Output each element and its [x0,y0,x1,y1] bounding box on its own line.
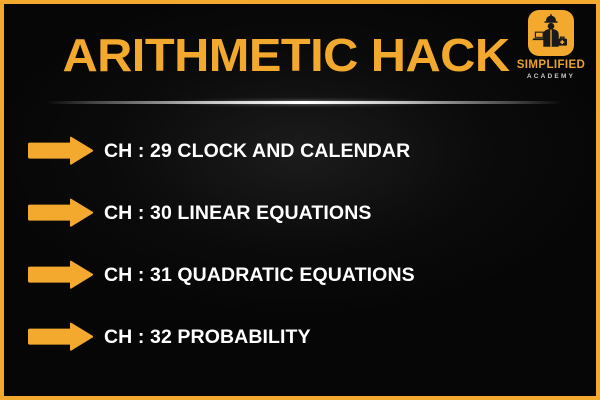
list-item[interactable]: CH : 32 PROBABILITY [4,306,596,368]
logo-brand-name: SIMPLIFIED [514,59,588,72]
list-item[interactable]: CH : 30 LINEAR EQUATIONS [4,182,596,244]
chapter-list: CH : 29 CLOCK AND CALENDAR CH : 30 LINEA… [4,120,596,368]
list-item[interactable]: CH : 31 QUADRATIC EQUATIONS [4,244,596,306]
poster-header: ARITHMETIC HACK [4,4,596,108]
page-title: ARITHMETIC HACK [42,28,530,82]
worker-with-laptop-icon [528,10,574,56]
list-item-label: CH : 29 CLOCK AND CALENDAR [104,140,410,163]
right-arrow-icon [26,260,94,290]
list-item[interactable]: CH : 29 CLOCK AND CALENDAR [4,120,596,182]
list-item-label: CH : 32 PROBABILITY [104,326,311,349]
right-arrow-icon [26,322,94,352]
right-arrow-icon [26,136,94,166]
glow-line-divider [46,96,562,110]
divider-core [46,101,562,104]
list-item-label: CH : 30 LINEAR EQUATIONS [104,202,371,225]
poster-canvas: ARITHMETIC HACK [0,0,600,400]
list-item-label: CH : 31 QUADRATIC EQUATIONS [104,264,415,287]
logo-brand-subtitle: ACADEMY [514,72,588,82]
brand-logo: SIMPLIFIED ACADEMY [514,10,588,82]
right-arrow-icon [26,198,94,228]
